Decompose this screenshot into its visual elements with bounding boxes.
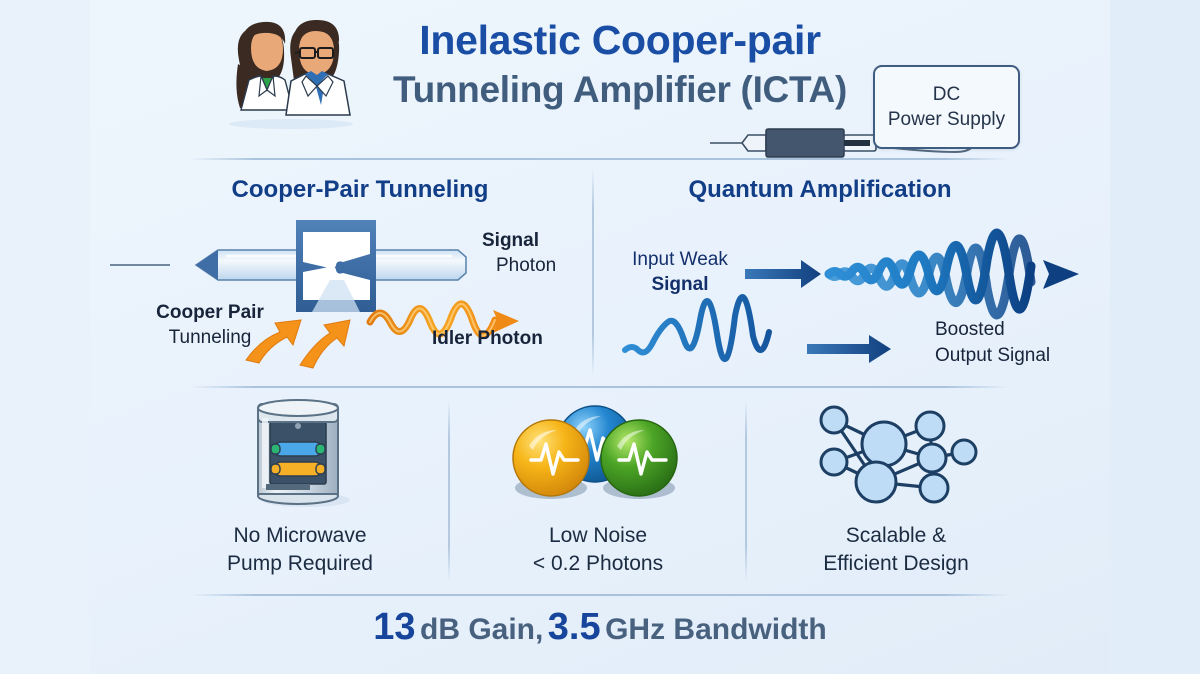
- title-line-1: Inelastic Cooper-pair: [375, 14, 865, 66]
- dc-power-supply-box: DC Power Supply: [873, 65, 1020, 149]
- left-margin-band: [0, 0, 90, 674]
- cryostat-icon: [238, 396, 362, 514]
- label-output-line-1: Boosted: [935, 317, 1125, 343]
- feature-3-line-2: Efficient Design: [823, 550, 969, 578]
- network-graph-icon: [806, 396, 986, 514]
- power-supply-line-2: Power Supply: [888, 107, 1005, 132]
- power-supply-line-1: DC: [933, 82, 960, 107]
- title-line-2: Tunneling Amplifier (ICTA): [375, 66, 865, 114]
- page-title: Inelastic Cooper-pair Tunneling Amplifie…: [375, 14, 865, 114]
- bandwidth-value: 3.5: [548, 606, 601, 648]
- label-output-line-2: Output Signal: [935, 343, 1125, 369]
- label-idler-photon: Idler Photon: [432, 328, 592, 350]
- label-boosted-output-signal: Boosted Output Signal: [935, 317, 1125, 369]
- noise-spheres-icon: [503, 396, 693, 514]
- feature-low-noise: Low Noise < 0.2 Photons: [450, 396, 746, 586]
- cooper-pair-panel: Cooper Pair Tunneling Signal Photon Idle…: [100, 210, 595, 380]
- section-heading-cooper-pair: Cooper-Pair Tunneling: [155, 176, 565, 204]
- feature-3-caption: Scalable & Efficient Design: [823, 522, 969, 578]
- label-signal-photon: Signal Photon: [482, 228, 602, 278]
- label-input-regular: Input Weak: [615, 247, 745, 272]
- gain-value: 13: [373, 606, 415, 648]
- section-heading-amplification: Quantum Amplification: [610, 176, 1030, 204]
- feature-3-line-1: Scalable &: [823, 522, 969, 550]
- scientists-illustration: [205, 8, 375, 138]
- feature-2-caption: Low Noise < 0.2 Photons: [533, 522, 663, 578]
- divider-top: [190, 158, 1010, 160]
- feature-scalable-design: Scalable & Efficient Design: [748, 396, 1044, 586]
- feature-1-caption: No Microwave Pump Required: [227, 522, 373, 578]
- label-input-weak-signal: Input Weak Signal: [615, 247, 745, 297]
- feature-2-line-1: Low Noise: [533, 522, 663, 550]
- poster-inner: Inelastic Cooper-pair Tunneling Amplifie…: [90, 0, 1110, 674]
- label-signal-regular: Photon: [482, 253, 602, 278]
- feature-1-line-2: Pump Required: [227, 550, 373, 578]
- feature-1-line-1: No Microwave: [227, 522, 373, 550]
- bandwidth-unit: GHz Bandwidth: [605, 613, 827, 646]
- label-cooper-pair-bold: Cooper Pair: [120, 300, 300, 325]
- label-cooper-pair-regular: Tunneling: [120, 325, 300, 350]
- feature-2-line-2: < 0.2 Photons: [533, 550, 663, 578]
- header: Inelastic Cooper-pair Tunneling Amplifie…: [90, 0, 1110, 158]
- divider-bottom: [190, 594, 1010, 596]
- label-input-bold: Signal: [615, 272, 745, 297]
- divider-middle: [190, 386, 1010, 388]
- label-signal-bold: Signal: [482, 228, 602, 253]
- footer-stat: 13 dB Gain, 3.5 GHz Bandwidth: [90, 606, 1110, 649]
- gain-unit: dB Gain,: [420, 613, 543, 646]
- amplification-panel: Input Weak Signal Boosted Output Signal: [595, 205, 1110, 385]
- infographic-poster: Inelastic Cooper-pair Tunneling Amplifie…: [0, 0, 1200, 674]
- label-cooper-pair-tunneling: Cooper Pair Tunneling: [120, 300, 300, 350]
- feature-no-microwave-pump: No Microwave Pump Required: [152, 396, 448, 586]
